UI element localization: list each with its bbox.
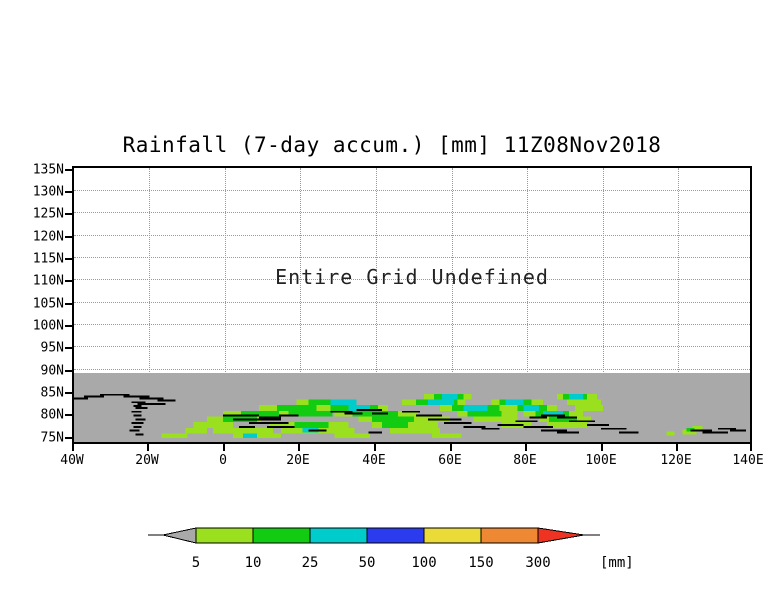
y-tick-label: 100N (33, 320, 64, 333)
y-tick-label: 120N (33, 231, 64, 244)
colorbar-swatches (0, 520, 784, 554)
y-tick-label: 115N (33, 253, 64, 266)
x-tick-label: 40W (60, 454, 83, 467)
colorbar[interactable]: 5 10 25 50 100 150 300 [mm] (0, 520, 784, 580)
colorbar-tick-label: 5 (192, 556, 200, 570)
page-title: Rainfall (7-day accum.) [mm] 11Z08Nov201… (0, 133, 784, 157)
y-tick-mark (65, 303, 72, 305)
y-tick-label: 90N (41, 365, 64, 378)
y-tick-mark (65, 258, 72, 260)
y-tick-mark (65, 370, 72, 372)
colorbar-tick-label: 50 (359, 556, 376, 570)
plot-area[interactable]: Entire Grid Undefined (72, 166, 752, 444)
y-tick-mark (65, 191, 72, 193)
y-tick-label: 110N (33, 275, 64, 288)
y-tick-label: 130N (33, 186, 64, 199)
y-tick-label: 75N (41, 432, 64, 445)
colorbar-tick-label: 150 (468, 556, 493, 570)
y-tick-mark (65, 437, 72, 439)
y-tick-label: 95N (41, 342, 64, 355)
x-axis: 40W 20W 0 20E 40E 60E 80E 100E 120E 140E (72, 444, 752, 474)
x-tick-label: 100E (585, 454, 616, 467)
x-tick-label: 40E (362, 454, 385, 467)
y-tick-label: 85N (41, 387, 64, 400)
y-tick-mark (65, 236, 72, 238)
y-tick-label: 80N (41, 409, 64, 422)
colorbar-tick-label: 300 (525, 556, 550, 570)
colorbar-tick-label: 25 (302, 556, 319, 570)
y-tick-label: 135N (33, 164, 64, 177)
x-tick-label: 140E (732, 454, 763, 467)
y-tick-label: 105N (33, 298, 64, 311)
y-tick-mark (65, 213, 72, 215)
undefined-grid-message: Entire Grid Undefined (74, 265, 750, 289)
y-tick-mark (65, 414, 72, 416)
x-tick-label: 20W (135, 454, 158, 467)
y-tick-mark (65, 392, 72, 394)
precipitation-raster (74, 373, 750, 442)
y-tick-mark (65, 280, 72, 282)
x-tick-label: 20E (286, 454, 309, 467)
colorbar-unit-label: [mm] (600, 556, 634, 570)
y-tick-mark (65, 325, 72, 327)
y-axis: 135N 130N 125N 120N 115N 110N 105N 100N … (0, 166, 72, 444)
y-tick-mark (65, 169, 72, 171)
y-tick-label: 125N (33, 208, 64, 221)
x-tick-label: 0 (219, 454, 227, 467)
colorbar-tick-label: 100 (411, 556, 436, 570)
x-tick-label: 80E (513, 454, 536, 467)
colorbar-tick-label: 10 (245, 556, 262, 570)
y-tick-mark (65, 347, 72, 349)
x-tick-label: 60E (438, 454, 461, 467)
x-tick-label: 120E (660, 454, 691, 467)
